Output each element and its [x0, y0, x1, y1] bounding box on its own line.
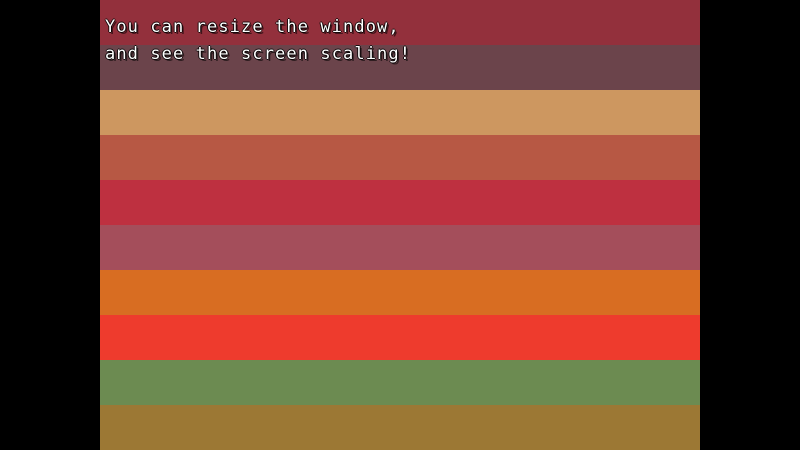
scaled-screen-viewport[interactable]: You can resize the window, and see the s… [100, 0, 700, 450]
color-stripe-9 [100, 360, 700, 405]
color-stripe-10 [100, 405, 700, 450]
color-stripe-8 [100, 315, 700, 360]
letterbox-bar-right [700, 0, 800, 450]
color-stripe-3 [100, 90, 700, 135]
color-stripe-2 [100, 45, 700, 90]
app-root: You can resize the window, and see the s… [0, 0, 800, 450]
color-stripe-stack [100, 0, 700, 450]
color-stripe-7 [100, 270, 700, 315]
color-stripe-5 [100, 180, 700, 225]
letterbox-bar-left [0, 0, 100, 450]
color-stripe-4 [100, 135, 700, 180]
color-stripe-6 [100, 225, 700, 270]
color-stripe-1 [100, 0, 700, 45]
